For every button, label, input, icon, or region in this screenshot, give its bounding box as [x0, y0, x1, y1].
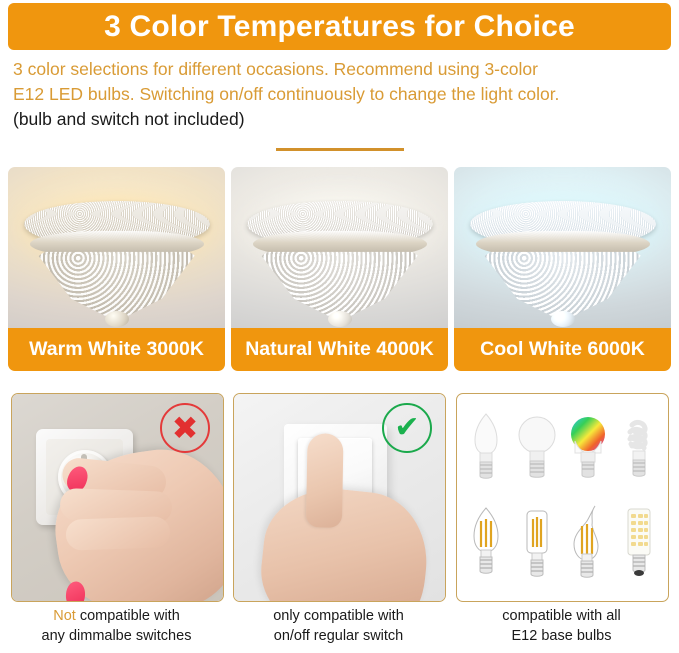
hand-pressing-switch: [255, 482, 434, 602]
flame-tip-filament-bulb: [563, 498, 614, 594]
check-icon: ✔: [382, 403, 432, 453]
bulb-grid: [457, 394, 668, 601]
hand-turning-dimmer: [46, 440, 224, 602]
rgb-color-globe-bulb: [563, 402, 614, 498]
caption-label-cool: Cool White 6000K: [480, 338, 645, 361]
subtitle-block: 3 color selections for different occasio…: [13, 57, 663, 132]
subtitle-line-1: 3 color selections for different occasio…: [13, 57, 663, 82]
compatibility-card-bulbs: [456, 393, 669, 602]
color-temperature-panel-cool: Cool White 6000K: [454, 167, 671, 371]
footer-caption-dimmer: Not compatible with any dimmalbe switche…: [11, 606, 222, 646]
crystal-ceiling-light-cool: [470, 201, 656, 321]
product-photo-natural: [231, 167, 448, 328]
caption-label-warm: Warm White 3000K: [29, 338, 204, 361]
footer-line2-bulbs: E12 base bulbs: [456, 626, 667, 646]
spiral-cfl-bulb: [613, 402, 664, 498]
footer-line2-dimmer: any dimmalbe switches: [11, 626, 222, 646]
crystal-ceiling-light-natural: [247, 201, 433, 321]
cross-icon: ✖: [160, 403, 210, 453]
caption-bar-warm: Warm White 3000K: [8, 328, 225, 371]
footer-caption-bulbs: compatible with all E12 base bulbs: [456, 606, 667, 646]
product-photo-cool: [454, 167, 671, 328]
caption-label-natural: Natural White 4000K: [245, 338, 434, 361]
page-title: 3 Color Temperatures for Choice: [104, 10, 575, 44]
product-photo-warm: [8, 167, 225, 328]
corn-led-bulb: [613, 498, 664, 594]
pointing-finger: [306, 433, 344, 528]
white-candle-bulb: [461, 402, 512, 498]
compatibility-card-rocker: ✔: [233, 393, 446, 602]
caption-bar-cool: Cool White 6000K: [454, 328, 671, 371]
header-banner: 3 Color Temperatures for Choice: [8, 3, 671, 50]
subtitle-line-2: E12 LED bulbs. Switching on/off continuo…: [13, 82, 663, 107]
footer-line2-rocker: on/off regular switch: [233, 626, 444, 646]
footer-line1-dimmer: compatible with: [76, 608, 180, 624]
product-infographic: 3 Color Temperatures for Choice 3 color …: [0, 0, 679, 653]
subtitle-line-3: (bulb and switch not included): [13, 107, 663, 132]
crystal-ceiling-light-warm: [24, 201, 210, 321]
footer-emphasis-not: Not: [53, 608, 76, 624]
color-temperature-panel-warm: Warm White 3000K: [8, 167, 225, 371]
frosted-globe-bulb: [512, 402, 563, 498]
section-divider: [276, 148, 404, 151]
footer-caption-rocker: only compatible with on/off regular swit…: [233, 606, 444, 646]
compatibility-card-dimmer: ✖: [11, 393, 224, 602]
footer-line1-bulbs: compatible with all: [456, 606, 667, 626]
footer-line1-rocker: only compatible with: [233, 606, 444, 626]
caption-bar-natural: Natural White 4000K: [231, 328, 448, 371]
color-temperature-panel-natural: Natural White 4000K: [231, 167, 448, 371]
tubular-filament-bulb: [512, 498, 563, 594]
filament-candle-bulb: [461, 498, 512, 594]
